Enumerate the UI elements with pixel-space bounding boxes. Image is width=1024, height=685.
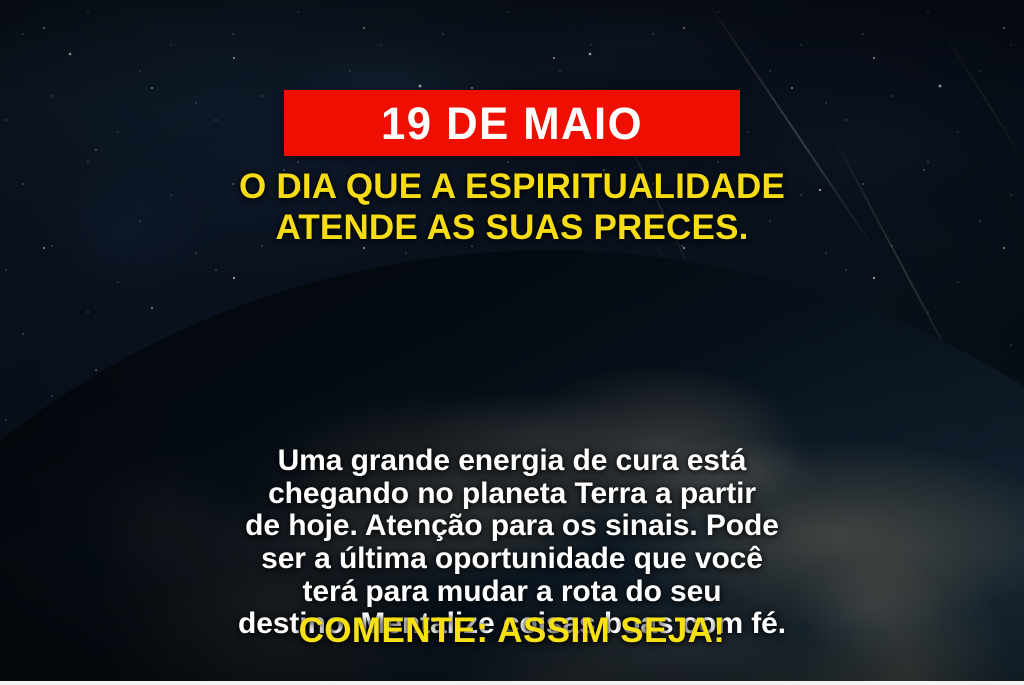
date-banner: 19 DE MAIO	[284, 90, 740, 156]
poster-content: 19 DE MAIO O DIA QUE A ESPIRITUALIDADE A…	[0, 0, 1024, 685]
body-line-3: de hoje. Atenção para os sinais. Pode	[20, 510, 1004, 543]
poster-image: 19 DE MAIO O DIA QUE A ESPIRITUALIDADE A…	[0, 0, 1024, 685]
headline-line-1: O DIA QUE A ESPIRITUALIDADE	[34, 166, 990, 207]
call-to-action-text: COMENTE: ASSIM SEJA!	[0, 613, 1024, 648]
body-line-2: chegando no planeta Terra a partir	[20, 478, 1004, 511]
body-line-1: Uma grande energia de cura está	[20, 445, 1004, 478]
body-line-5: terá para mudar a rota do seu	[20, 576, 1004, 609]
headline: O DIA QUE A ESPIRITUALIDADE ATENDE AS SU…	[0, 166, 1024, 249]
headline-line-2: ATENDE AS SUAS PRECES.	[34, 207, 990, 248]
date-banner-label: 19 DE MAIO	[381, 101, 643, 146]
bottom-edge-strip	[0, 681, 1024, 685]
body-line-4: ser a última oportunidade que você	[20, 543, 1004, 576]
